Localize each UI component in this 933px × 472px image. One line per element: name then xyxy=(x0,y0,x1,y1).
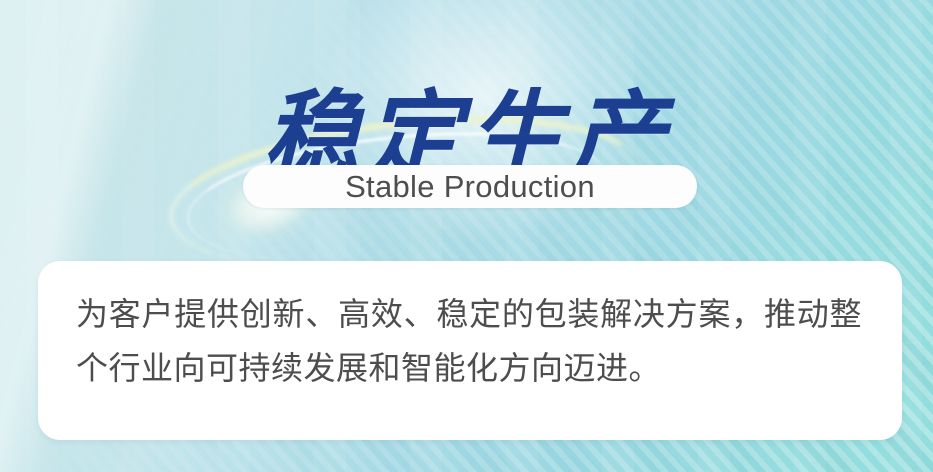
description-text: 为客户提供创新、高效、稳定的包装解决方案，推动整个行业向可持续发展和智能化方向迈… xyxy=(76,287,862,395)
subtitle-label: Stable Production xyxy=(345,171,595,202)
stable-production-banner: 稳定生产 Stable Production 为客户提供创新、高效、稳定的包装解… xyxy=(0,0,933,472)
subtitle-pill: Stable Production xyxy=(243,165,697,208)
description-card: 为客户提供创新、高效、稳定的包装解决方案，推动整个行业向可持续发展和智能化方向迈… xyxy=(38,261,902,440)
banner-content: 稳定生产 Stable Production 为客户提供创新、高效、稳定的包装解… xyxy=(0,0,933,472)
